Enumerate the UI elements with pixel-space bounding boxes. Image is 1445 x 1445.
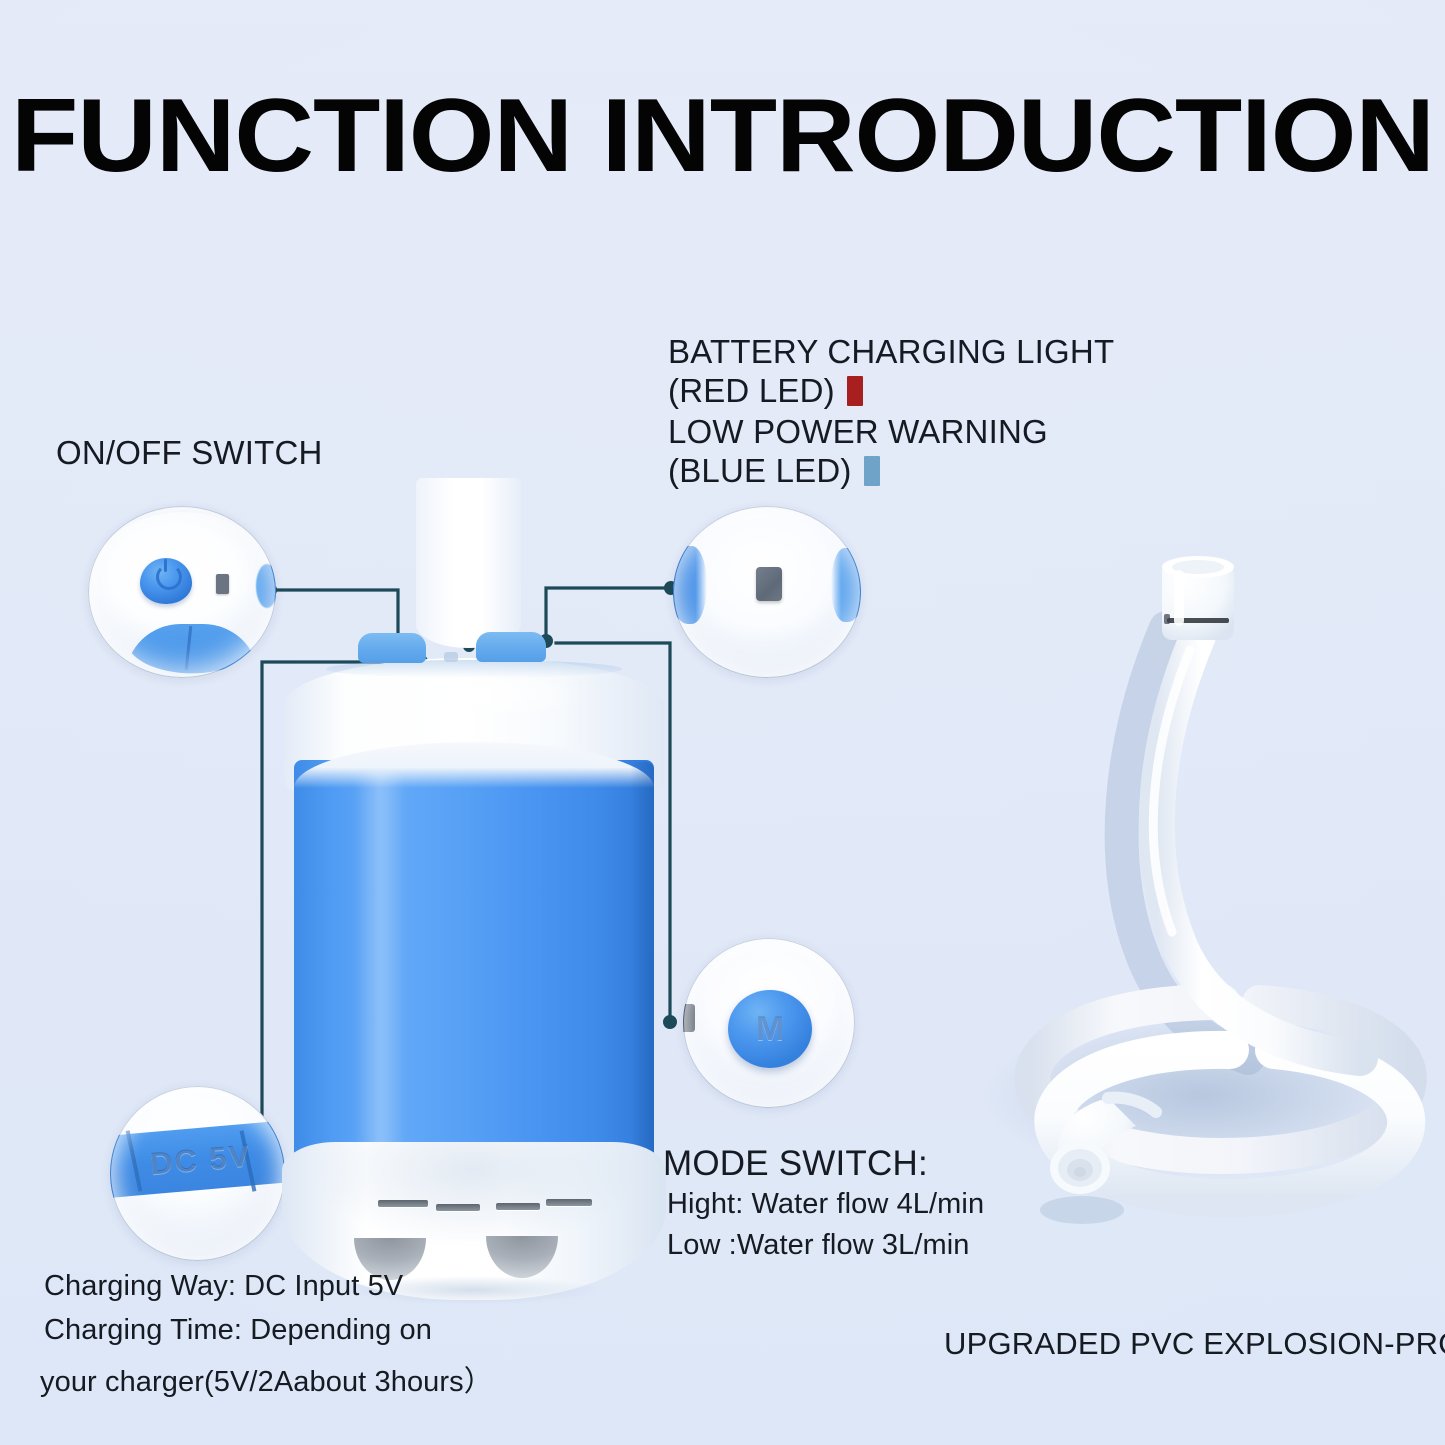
shoulder-button-right[interactable] — [476, 632, 546, 662]
pump-body-blue — [294, 760, 654, 1180]
label-low-power-warning: LOW POWER WARNING — [668, 413, 1048, 451]
led-indicator-window — [756, 567, 782, 601]
vent-slot — [496, 1203, 540, 1210]
mode-button-glyph: M — [728, 990, 812, 1068]
label-pvc-hose: UPGRADED PVC EXPLOSION-PROOF HOSE — [944, 1326, 1445, 1362]
blue-accent-right — [831, 548, 861, 622]
mode-button[interactable] — [728, 990, 812, 1068]
body-gloss-highlight — [354, 770, 406, 1160]
housing-surface — [683, 938, 855, 1108]
label-on-off-switch: ON/OFF SWITCH — [56, 434, 323, 472]
callout-bubble-on-off-switch — [88, 506, 276, 678]
label-charging-way: Charging Way: DC Input 5V — [44, 1270, 403, 1303]
hose-top-connector — [1162, 556, 1234, 640]
product-water-pump — [258, 470, 688, 1310]
label-blue-led-row: (BLUE LED) — [668, 452, 880, 490]
shoulder-button-left[interactable] — [358, 633, 426, 663]
cap-surface — [673, 506, 861, 678]
dc-port-label: DC 5V — [149, 1138, 253, 1183]
body-right-shading — [630, 762, 654, 1182]
vent-slot — [378, 1200, 428, 1207]
band-seam-right — [240, 1130, 257, 1191]
label-red-led-row: (RED LED) — [668, 372, 863, 410]
cap-surface — [88, 512, 276, 678]
label-battery-charging-light: BATTERY CHARGING LIGHT — [668, 333, 1114, 371]
band-seam-left — [126, 1130, 143, 1191]
label-mode-switch-title: MODE SWITCH: — [663, 1144, 928, 1184]
vent-slot — [546, 1199, 592, 1206]
blue-led-swatch — [864, 456, 880, 486]
product-pvc-hose — [930, 550, 1445, 1320]
label-blue-led: (BLUE LED) — [668, 452, 852, 489]
band-seam — [185, 626, 193, 670]
label-red-led: (RED LED) — [668, 372, 835, 409]
vent-slot — [436, 1204, 480, 1211]
power-button[interactable] — [140, 558, 192, 604]
page-title: FUNCTION INTRODUCTION — [0, 84, 1445, 188]
infographic-page: FUNCTION INTRODUCTION — [0, 0, 1445, 1445]
label-mode-high: Hight: Water flow 4L/min — [667, 1188, 984, 1221]
callout-bubble-led-indicator — [673, 506, 861, 678]
callout-bubble-mode-switch: M — [683, 938, 855, 1108]
label-charging-detail: your charger(5V/2Aabout 3hours） — [40, 1358, 493, 1400]
label-charging-time: Charging Time: Depending on — [44, 1314, 432, 1347]
pump-spout — [416, 478, 521, 648]
power-icon — [156, 564, 182, 590]
led-indicator-window — [216, 574, 229, 594]
label-mode-low: Low :Water flow 3L/min — [667, 1229, 970, 1262]
power-icon-stem — [164, 559, 167, 572]
red-led-swatch — [847, 376, 863, 406]
shoulder-center-nub — [444, 652, 458, 662]
